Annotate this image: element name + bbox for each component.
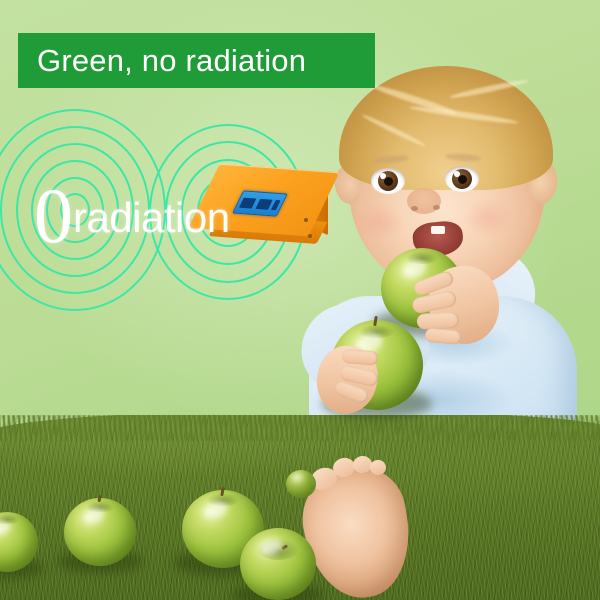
zero-radiation-word: radiation	[73, 194, 230, 241]
promo-image-scene: 0radiation Green, no radiation	[0, 0, 600, 600]
apple-stem	[220, 487, 224, 496]
lcd-segment	[255, 198, 272, 209]
zero-radiation-label: 0radiation	[34, 176, 230, 242]
lcd-segment	[239, 197, 256, 208]
lcd-segment	[271, 199, 281, 209]
zero-radiation-digit: 0	[34, 172, 73, 259]
apple-ground-right	[286, 470, 316, 498]
baby-foot-group	[295, 70, 600, 600]
apple-ground-left	[64, 498, 136, 566]
apple-ground-front	[240, 528, 316, 600]
headline-text: Green, no radiation	[18, 43, 306, 79]
